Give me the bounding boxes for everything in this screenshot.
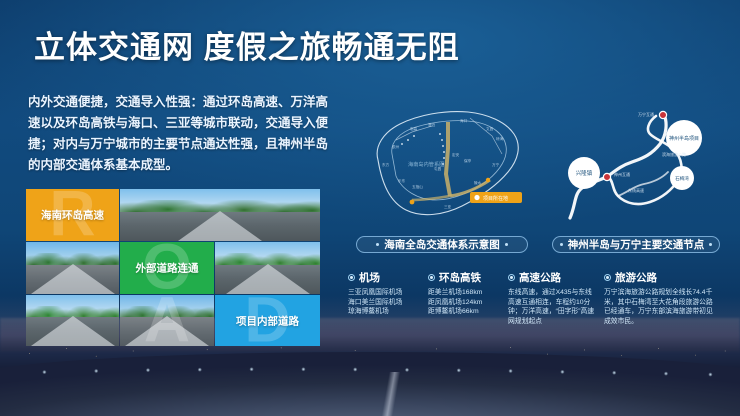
bullet-ring-icon	[508, 274, 515, 281]
shenzhou-map-caption-text: 神州半岛与万宁主要交通节点	[568, 237, 705, 252]
svg-text:项目所在地: 项目所在地	[483, 195, 508, 202]
caption-dot-left-icon	[376, 243, 379, 246]
caption-dot-right-icon	[505, 243, 508, 246]
info-column-rail-header: 环岛高铁	[428, 270, 508, 285]
northeast-rail	[470, 118, 502, 154]
caption-dot-left-icon	[560, 243, 563, 246]
node-shenzhou-project: 神州半岛项目	[666, 120, 702, 156]
svg-text:保亭: 保亭	[464, 158, 472, 163]
node-shimeiwan: 石梅湾	[670, 166, 694, 190]
collage-tile-highway-label: 海南环岛高速	[41, 208, 104, 223]
hainan-project-marker: 项目所在地	[470, 192, 522, 203]
info-column-tourism-road: 旅游公路 万宁滨海旅游公路规划全线长74.4千米，其中石梅湾至大花角段旅游公路已…	[604, 270, 720, 348]
info-column-expressway-header: 高速公路	[508, 270, 604, 285]
collage-photo-1	[120, 189, 320, 241]
collage-photo-5: A	[120, 295, 214, 346]
svg-text:三亚: 三亚	[444, 205, 452, 209]
caption-dot-right-icon	[709, 243, 712, 246]
node-xinglong: 兴隆镇	[568, 157, 600, 189]
svg-text:东线高速: 东线高速	[628, 187, 644, 193]
svg-text:万宁互通: 万宁互通	[638, 111, 654, 117]
svg-text:神州半岛项目: 神州半岛项目	[669, 135, 699, 142]
svg-text:陵水: 陵水	[474, 180, 482, 185]
hainan-map-caption: 海南全岛交通体系示意图	[356, 236, 528, 253]
hainan-rail-dots	[401, 133, 445, 165]
collage-tile-external-roads: O 外部道路连通	[120, 242, 214, 294]
info-column-airport-header: 机场	[348, 270, 428, 285]
info-column-airport-line-1: 三亚凤凰国际机场	[348, 288, 428, 298]
intro-paragraph: 内外交通便捷，交通导入性强：通过环岛高速、万洋高速以及环岛高铁与海口、三亚等城市…	[28, 92, 328, 176]
svg-text:五指山: 五指山	[412, 184, 423, 189]
central-expressway	[446, 122, 450, 196]
svg-text:屯昌: 屯昌	[434, 166, 442, 171]
collage-photo-2	[26, 242, 119, 294]
hainan-marker-dot-se	[486, 178, 490, 182]
svg-text:乐东: 乐东	[398, 178, 406, 183]
collage-photo-4	[26, 295, 119, 346]
hainan-map-caption-text: 海南全岛交通体系示意图	[384, 237, 500, 252]
slide-root: 立体交通网 度假之旅畅通无阻 内外交通便捷，交通导入性强：通过环岛高速、万洋高速…	[0, 0, 740, 416]
hainan-island-map: 海南岛内管系图 海口文昌琼海 万宁陵水三亚 东方儋州临高 澄迈定安屯昌 五指山保…	[352, 96, 530, 230]
svg-text:文昌: 文昌	[486, 126, 494, 131]
svg-text:澄迈: 澄迈	[428, 122, 436, 127]
collage-tile-internal-roads: D 项目内部道路	[215, 295, 320, 346]
svg-text:神州互通: 神州互通	[614, 171, 630, 177]
info-column-tourism-road-title: 旅游公路	[615, 270, 657, 285]
info-column-expressway: 高速公路 东线高速，通过X435与东线高速互通相连，车程约10分钟；万洋高速，“…	[508, 270, 604, 348]
page-title: 立体交通网 度假之旅畅通无阻	[34, 22, 460, 67]
info-column-tourism-road-header: 旅游公路	[604, 270, 720, 285]
photo-collage: R 海南环岛高速 O 外部道路连通 A D 项目内部道路	[26, 189, 318, 344]
transport-info-columns: 机场 三亚凤凰国际机场 海口美兰国际机场 琼海博鳌机场 环岛高铁 距美兰机场16…	[348, 270, 720, 348]
info-column-expressway-body: 东线高速，通过X435与东线高速互通相连，车程约10分钟；万洋高速，“田字形”高…	[508, 288, 604, 326]
svg-text:临高: 临高	[410, 126, 418, 131]
info-column-expressway-title: 高速公路	[519, 270, 561, 285]
shenzhou-map-caption: 神州半岛与万宁主要交通节点	[552, 236, 720, 253]
info-column-tourism-road-body: 万宁滨海旅游公路规划全线长74.4千米，其中石梅湾至大花角段旅游公路已经通车，万…	[604, 288, 720, 326]
svg-text:东方: 东方	[382, 162, 390, 167]
svg-text:万宁: 万宁	[492, 162, 500, 167]
info-column-rail: 环岛高铁 距美兰机场168km 距凤凰机场124km 距博鳌机场66km	[428, 270, 508, 348]
info-column-rail-line-3: 距博鳌机场66km	[428, 307, 508, 317]
info-column-airport-line-2: 海口美兰国际机场	[348, 298, 428, 308]
collage-tile-highway: R 海南环岛高速	[26, 189, 119, 241]
svg-text:石梅湾: 石梅湾	[675, 175, 689, 182]
info-column-airport-title: 机场	[359, 270, 380, 285]
svg-text:兴隆镇: 兴隆镇	[576, 169, 593, 177]
bullet-ring-icon	[428, 274, 435, 281]
hainan-marker-dot-sw	[410, 200, 415, 205]
svg-text:琼海: 琼海	[496, 136, 504, 141]
info-column-rail-line-2: 距凤凰机场124km	[428, 298, 508, 308]
bullet-ring-icon	[348, 274, 355, 281]
highway-lane-marking	[326, 372, 456, 416]
info-column-rail-title: 环岛高铁	[439, 270, 481, 285]
junction-shenzhou	[603, 173, 610, 180]
collage-tile-external-roads-label: 外部道路连通	[136, 261, 199, 276]
collage-tile-internal-roads-label: 项目内部道路	[236, 313, 299, 328]
svg-text:滨海旅游公路: 滨海旅游公路	[662, 151, 686, 157]
info-column-rail-line-1: 距美兰机场168km	[428, 288, 508, 298]
info-column-airport-line-3: 琼海博鳌机场	[348, 307, 428, 317]
junction-wanning	[659, 111, 666, 118]
collage-photo-3	[215, 242, 320, 294]
info-column-airport: 机场 三亚凤凰国际机场 海口美兰国际机场 琼海博鳌机场	[348, 270, 428, 348]
shenzhou-peninsula-map: 兴隆镇 神州半岛项目 石梅湾 万宁互通 神州互通 滨海旅游公路 东线高速	[556, 100, 716, 226]
bullet-ring-icon	[604, 274, 611, 281]
svg-text:海口: 海口	[460, 118, 468, 123]
svg-text:儋州: 儋州	[392, 144, 400, 149]
svg-text:定安: 定安	[452, 152, 460, 157]
